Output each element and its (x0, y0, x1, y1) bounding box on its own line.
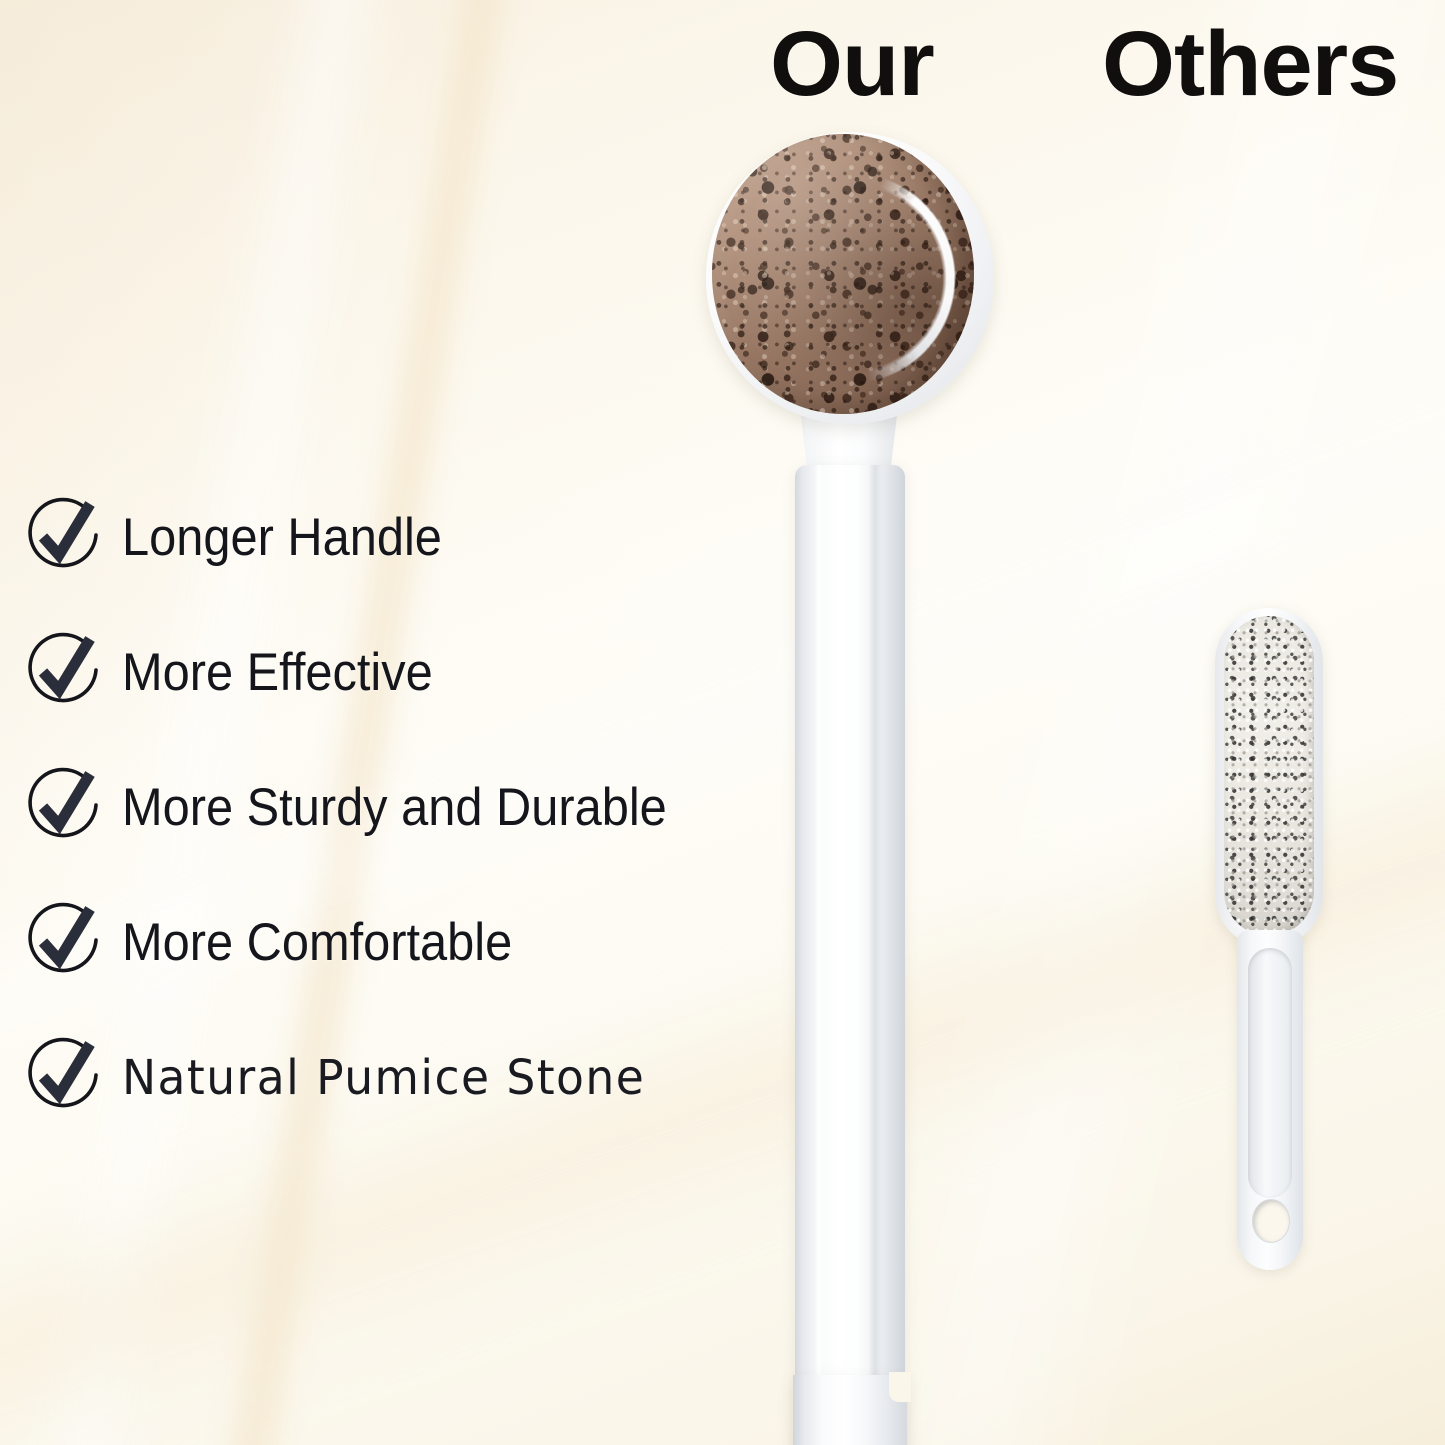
our-product-handle (795, 465, 905, 1445)
our-product-head-rim (704, 130, 996, 426)
check-circle-icon (26, 632, 104, 710)
heading-our: Our (770, 18, 934, 110)
heading-others: Others (1102, 18, 1398, 110)
comparison-infographic: Our Others Longer Handle More Effective (0, 0, 1445, 1445)
check-circle-icon (26, 497, 104, 575)
feature-label: More Comfortable (122, 916, 512, 969)
our-product-handle-notch (889, 1372, 911, 1402)
others-product-pumice-pad (1224, 616, 1314, 936)
our-product-image (690, 120, 1030, 1440)
check-circle-icon (26, 1037, 104, 1115)
check-circle-icon (26, 902, 104, 980)
pumice-speckle-texture (1224, 616, 1314, 936)
others-product-hang-hole (1253, 1200, 1289, 1242)
others-product-grip (1248, 948, 1292, 1198)
check-circle-icon (26, 767, 104, 845)
feature-label: Natural Pumice Stone (122, 1054, 645, 1102)
feature-label: Longer Handle (122, 511, 442, 564)
others-product-image (1215, 600, 1345, 1280)
feature-label: More Sturdy and Durable (122, 781, 667, 834)
feature-label: More Effective (122, 646, 433, 699)
